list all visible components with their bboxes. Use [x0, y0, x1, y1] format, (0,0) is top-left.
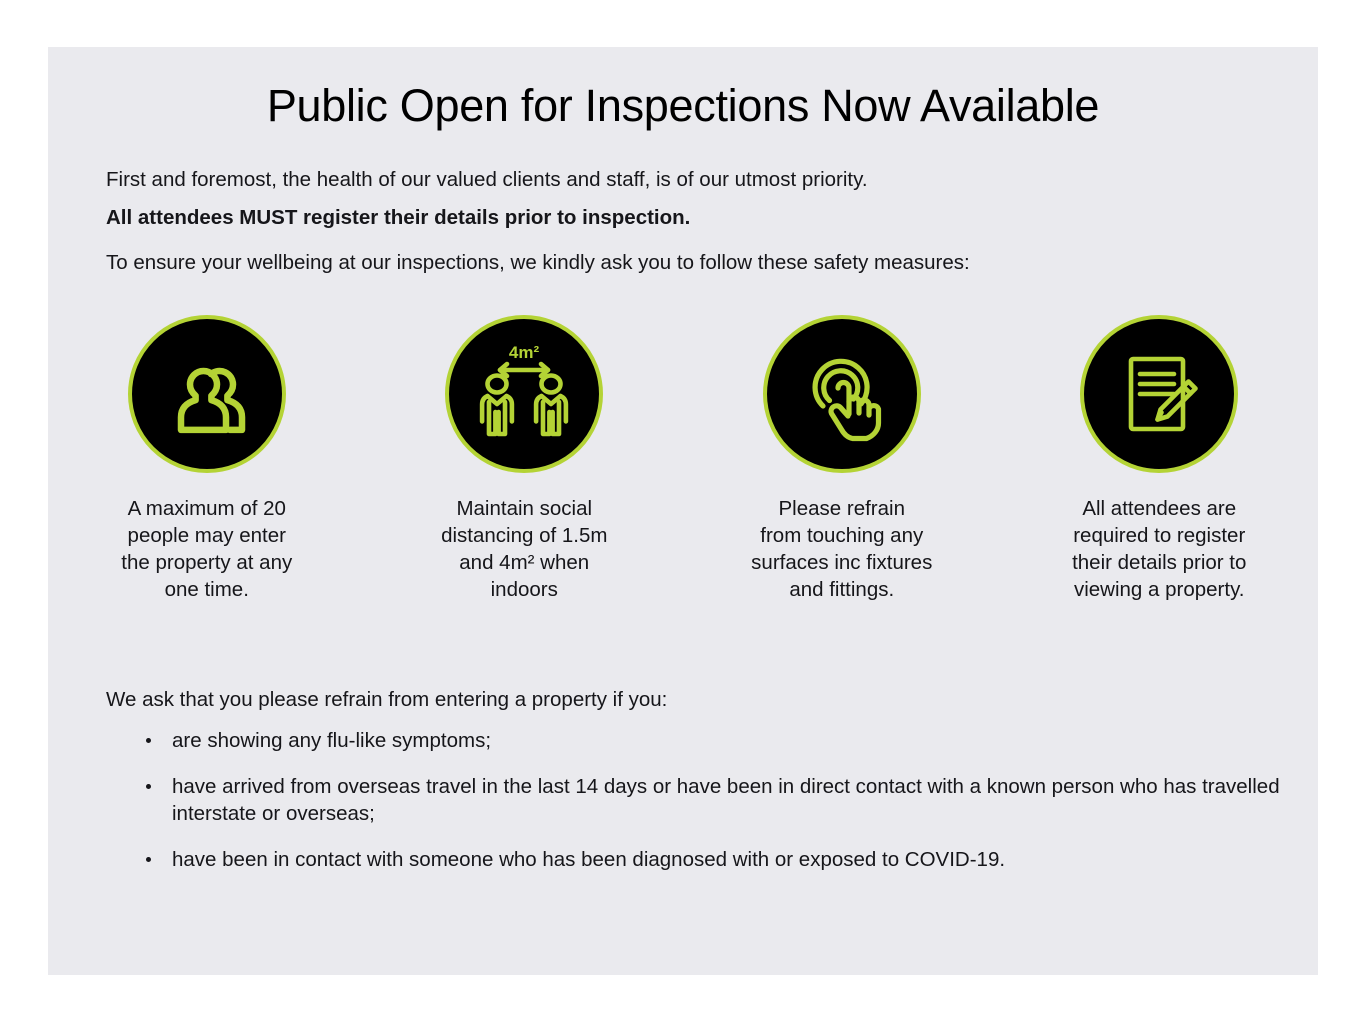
- list-item: are showing any flu-like symptoms;: [106, 727, 1286, 754]
- list-item-label: have arrived from overseas travel in the…: [172, 775, 1280, 825]
- measure-item-social-distancing: 4m² Maintain social dist: [366, 315, 684, 603]
- list-item: have been in contact with someone who ha…: [106, 846, 1286, 873]
- bullet-dot-icon: [146, 784, 151, 789]
- poster-panel: Public Open for Inspections Now Availabl…: [48, 47, 1318, 975]
- safety-measures-row: A maximum of 20 people may enter the pro…: [48, 315, 1318, 603]
- social-distancing-icon: 4m²: [445, 315, 603, 473]
- measure-item-max-people: A maximum of 20 people may enter the pro…: [48, 315, 366, 603]
- intro-line-register-required: All attendees MUST register their detail…: [106, 205, 1286, 231]
- exclusion-bullet-list: are showing any flu-like symptoms; have …: [106, 727, 1286, 892]
- list-item: have arrived from overseas travel in the…: [106, 773, 1286, 827]
- measure-caption: A maximum of 20 people may enter the pro…: [121, 495, 292, 603]
- page-title: Public Open for Inspections Now Availabl…: [48, 80, 1318, 132]
- intro-line-safety-measures: To ensure your wellbeing at our inspecti…: [106, 250, 1286, 276]
- touch-hand-icon: [763, 315, 921, 473]
- measure-item-no-touching: Please refrain from touching any surface…: [683, 315, 1001, 603]
- measure-caption: Maintain social distancing of 1.5m and 4…: [441, 495, 607, 603]
- bullet-dot-icon: [146, 738, 151, 743]
- document-pencil-icon: [1080, 315, 1238, 473]
- two-people-icon: [128, 315, 286, 473]
- measure-caption: All attendees are required to register t…: [1072, 495, 1246, 603]
- measure-caption: Please refrain from touching any surface…: [751, 495, 932, 603]
- list-item-label: have been in contact with someone who ha…: [172, 848, 1005, 871]
- intro-line-health-priority: First and foremost, the health of our va…: [106, 167, 1286, 193]
- svg-text:4m²: 4m²: [509, 343, 540, 362]
- list-item-label: are showing any flu-like symptoms;: [172, 729, 491, 752]
- measure-item-register: All attendees are required to register t…: [1001, 315, 1319, 603]
- bullet-dot-icon: [146, 857, 151, 862]
- closing-lead-text: We ask that you please refrain from ente…: [106, 687, 667, 713]
